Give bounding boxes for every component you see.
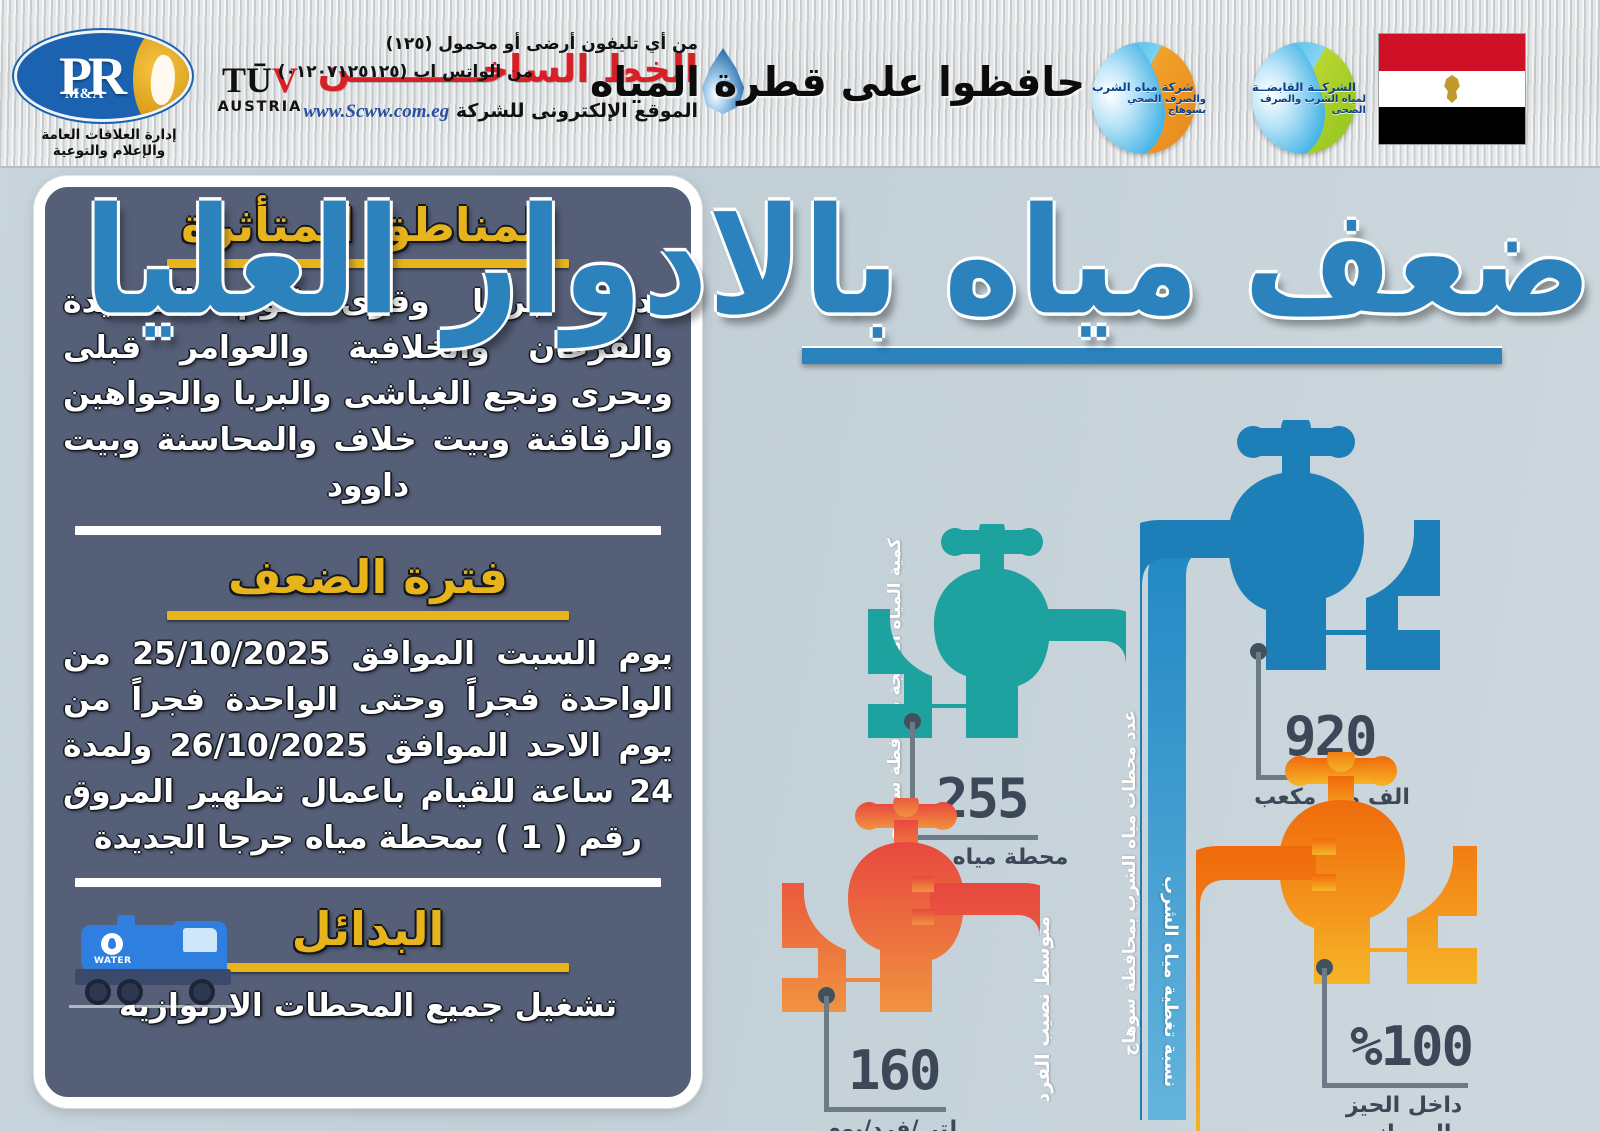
pr-logo-oval: PR M&A	[14, 30, 192, 122]
hotline-number-2: (٠١٢٠٧١٢٥١٢٥)	[278, 62, 408, 82]
hotline-note-2: من الواتس اب (٠١٢٠٧١٢٥١٢٥)	[278, 62, 533, 82]
sohag-logo-line1: شركة مياه الشرب	[1092, 80, 1194, 94]
egypt-flag-icon	[1378, 33, 1526, 145]
outage-period-title: فترة الضعف	[63, 551, 673, 604]
callout-stem	[1322, 968, 1327, 1088]
title-underline	[167, 611, 570, 620]
holding-logo-line2: لمياه الشرب والصرف الصحى	[1252, 94, 1366, 116]
eagle-of-saladin-icon	[1439, 75, 1465, 103]
coverage-unit: داخل الحيز العمرانى	[1324, 1092, 1484, 1131]
water-tanker-truck-icon: WATER	[69, 901, 239, 1009]
unit-line-1: داخل الحيز	[1324, 1092, 1484, 1120]
unit-line-2: العمرانى	[1324, 1120, 1484, 1131]
main-headline: ضعف مياه بالادوار العليا	[712, 196, 1592, 396]
per-capita-vertical-label: متوسط نصيب الفرد	[1032, 916, 1054, 1102]
truck-label: WATER	[94, 956, 132, 966]
callout-stem	[824, 996, 829, 1112]
pr-logo-caption: إدارة العلاقات العامة والإعلام والتوعية	[14, 127, 204, 159]
unit-line-1: لتر /فرد/يوم	[796, 1116, 986, 1131]
per-capita-unit: لتر /فرد/يوم	[796, 1116, 986, 1131]
hotline-note-2-text: من الواتس اب	[413, 62, 533, 82]
coverage-value: %100	[1350, 1020, 1472, 1074]
infographic-item-coverage: نسبة تغطية مياه الشرب %100 داخل الحيز ال…	[1196, 752, 1546, 1131]
pr-logo: PR M&A إدارة العلاقات العامة والإعلام وا…	[14, 30, 204, 159]
section-divider-2	[75, 878, 661, 887]
callout-stem	[824, 1107, 946, 1112]
per-capita-value: 160	[848, 1044, 940, 1098]
header-slogan: حافظوا على قطرة المياه	[765, 58, 1085, 106]
main-headline-text: ضعف مياه بالادوار العليا	[712, 186, 1592, 341]
website-url[interactable]: www.Scww.com.eg	[303, 101, 449, 123]
outage-period-body: يوم السبت الموافق 25/10/2025 من الواحدة …	[63, 632, 673, 862]
coverage-vertical-label: نسبة تغطية مياه الشرب	[1160, 876, 1181, 1087]
sohag-water-company-logo: شركة مياه الشرب والصرف الصحي بسوهاج	[1092, 42, 1212, 154]
page-header: PR M&A إدارة العلاقات العامة والإعلام وا…	[0, 0, 1600, 168]
pr-logo-subtext: M&A	[65, 86, 104, 103]
stations-vertical-label: عدد محطات مياه الشرب بمحافظة سوهاج	[1120, 710, 1140, 1056]
headline-underbar	[802, 348, 1502, 364]
holding-company-logo: الشركــة القابضــة لمياه الشرب والصرف ال…	[1252, 42, 1372, 154]
alternatives-section: WATER البدائل تشغيل جميع المحطات الارتوا…	[63, 903, 673, 1030]
outage-period-section: فترة الضعف يوم السبت الموافق 25/10/2025 …	[63, 551, 673, 862]
sohag-logo-line2: والصرف الصحي بسوهاج	[1092, 94, 1206, 116]
callout-stem	[1322, 1083, 1468, 1088]
holding-logo-line1: الشركــة القابضــة	[1252, 80, 1356, 94]
faucet-infographic: كمية المياه المنتجة بمحافظة سوهاج 920 ال…	[700, 400, 1600, 1131]
infographic-item-per-capita: متوسط نصيب الفرد 160 لتر /فرد/يوم	[710, 798, 1040, 1131]
section-divider-1	[75, 526, 661, 535]
